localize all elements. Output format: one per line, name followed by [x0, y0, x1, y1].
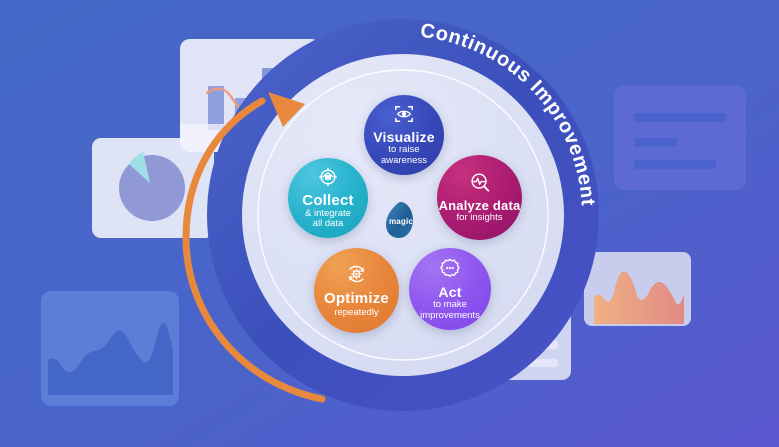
magic-logo: magic: [378, 197, 424, 243]
stage-bubble-visualize[interactable]: Visualize to raise awareness: [364, 95, 444, 175]
stage-subtitle-line2: all data: [313, 219, 344, 229]
stage-bubble-optimize[interactable]: Optimize repeatedly: [314, 248, 399, 333]
diagram-canvas: Continuous Improvement Visualize to rais…: [0, 0, 779, 447]
stage-subtitle-line2: improvements: [420, 311, 480, 321]
stage-title: Visualize: [373, 130, 434, 145]
stage-bubble-collect[interactable]: Collect & integrate all data: [288, 158, 368, 238]
stage-title: Optimize: [324, 291, 389, 307]
gear-refresh-icon: [345, 263, 368, 289]
stage-bubble-analyze[interactable]: Analyze data for insights: [437, 155, 522, 240]
stage-subtitle-line1: for insights: [457, 213, 503, 223]
stage-bubble-act[interactable]: Act to make improvements: [409, 248, 491, 330]
stage-title: Collect: [302, 193, 353, 209]
data-collect-icon: [317, 167, 339, 191]
eye-scan-icon: [393, 104, 415, 128]
stage-title: Analyze data: [439, 199, 521, 213]
magnifier-pulse-icon: [468, 172, 492, 197]
gear-dots-icon: [439, 257, 461, 283]
stage-subtitle-line1: repeatedly: [334, 308, 378, 318]
stage-title: Act: [438, 285, 461, 300]
magic-logo-label: magic: [378, 217, 424, 226]
stage-subtitle-line2: awareness: [381, 156, 427, 166]
